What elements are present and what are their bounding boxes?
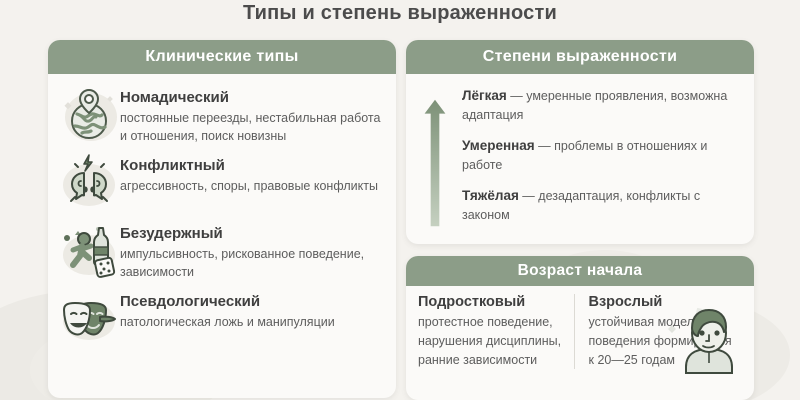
age-of-onset-card: Возраст начала Подростковый протестное п… <box>406 256 754 400</box>
type-name: Псевдологический <box>120 293 335 312</box>
list-item-text: Конфликтный агрессивность, споры, правов… <box>120 151 378 195</box>
type-name: Конфликтный <box>120 157 378 176</box>
clinical-types-card: Клинические типы Номадический постоянные… <box>48 40 396 398</box>
running-bottle-dice-icon <box>58 219 120 281</box>
list-item-text: Псевдологический патологическая ложь и м… <box>120 287 335 331</box>
list-item: Лёгкая — умеренные проявления, возможна … <box>462 86 744 125</box>
severity-name: Тяжёлая <box>462 188 519 203</box>
severity-list: Лёгкая — умеренные проявления, возможна … <box>462 84 744 238</box>
list-item: Псевдологический патологическая ложь и м… <box>48 284 396 352</box>
severity-dash: — <box>507 89 526 103</box>
list-item-text: Номадический постоянные переезды, нестаб… <box>120 83 384 145</box>
list-item: Безудержный импульсивность, рискованное … <box>48 216 396 284</box>
list-item: Конфликтный агрессивность, споры, правов… <box>48 148 396 216</box>
list-item-text: Безудержный импульсивность, рискованное … <box>120 219 384 281</box>
severity-line: Лёгкая — умеренные проявления, возможна … <box>462 86 744 125</box>
person-portrait-icon <box>666 301 752 371</box>
severity-dash: — <box>535 139 554 153</box>
severity-line: Тяжёлая — дезадаптация, конфликты с зако… <box>462 186 744 225</box>
age-column-description: протестное поведение, нарушения дисципли… <box>418 313 564 369</box>
severity-header: Степени выраженности <box>406 40 754 74</box>
severity-card: Степени выраженности Лёгкая — умеренные … <box>406 40 754 244</box>
type-description: постоянные переезды, нестабильная работа… <box>120 109 384 145</box>
severity-dash: — <box>519 189 538 203</box>
age-of-onset-header: Возраст начала <box>406 256 754 286</box>
list-item: Умеренная — проблемы в отношениях и рабо… <box>462 136 744 175</box>
page-title: Типы и степень выраженности <box>0 2 800 25</box>
severity-name: Лёгкая <box>462 88 507 103</box>
arguing-faces-icon <box>58 151 120 213</box>
type-name: Безудержный <box>120 225 384 244</box>
globe-pin-icon <box>58 83 120 145</box>
clinical-types-list: Номадический постоянные переезды, нестаб… <box>48 74 396 352</box>
clinical-types-header: Клинические типы <box>48 40 396 74</box>
age-of-onset-body: Подростковый протестное поведение, наруш… <box>406 286 754 369</box>
list-item: Номадический постоянные переезды, нестаб… <box>48 80 396 148</box>
list-item: Тяжёлая — дезадаптация, конфликты с зако… <box>462 186 744 225</box>
type-name: Номадический <box>120 89 384 108</box>
severity-line: Умеренная — проблемы в отношениях и рабо… <box>462 136 744 175</box>
severity-body: Лёгкая — умеренные проявления, возможна … <box>406 74 754 244</box>
theater-masks-icon <box>58 287 120 349</box>
up-arrow-icon <box>422 84 462 238</box>
type-description: патологическая ложь и манипуляции <box>120 313 335 331</box>
age-column-title: Подростковый <box>418 294 564 310</box>
type-description: импульсивность, рискованное поведение, з… <box>120 245 384 281</box>
type-description: агрессивность, споры, правовые конфликты <box>120 177 378 195</box>
age-column-adolescent: Подростковый протестное поведение, наруш… <box>418 294 574 369</box>
severity-name: Умеренная <box>462 138 535 153</box>
